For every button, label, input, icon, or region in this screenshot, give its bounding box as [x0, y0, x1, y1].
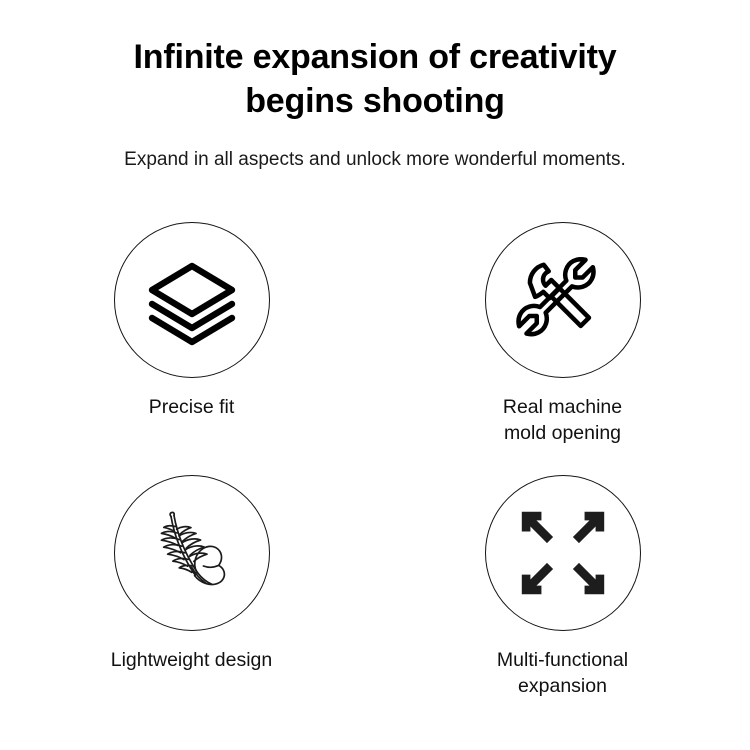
- page-subtitle: Expand in all aspects and unlock more wo…: [0, 148, 750, 173]
- feature-item-real-machine-mold-opening: Real machine mold opening: [375, 222, 750, 475]
- feature-icon-badge: [114, 475, 270, 631]
- header: Infinite expansion of creativity begins …: [0, 0, 750, 173]
- feature-label: Real machine mold opening: [503, 395, 622, 446]
- hammer-wrench-icon: [516, 253, 610, 347]
- feature-label: Multi-functional expansion: [497, 648, 628, 699]
- feature-label: Precise fit: [149, 395, 235, 421]
- feature-item-multi-functional-expansion: Multi-functional expansion: [375, 475, 750, 728]
- feature-grid: Precise fit Real machine mold opening: [0, 222, 750, 728]
- layers-icon: [144, 252, 240, 348]
- feature-icon-badge: [485, 475, 641, 631]
- feature-item-lightweight-design: Lightweight design: [0, 475, 375, 728]
- page-title-line-1: Infinite expansion of creativity: [60, 36, 690, 80]
- feature-icon-badge: [114, 222, 270, 378]
- page-title: Infinite expansion of creativity begins …: [0, 36, 750, 123]
- feature-icon-badge: [485, 222, 641, 378]
- expand-arrows-icon: [517, 507, 609, 599]
- promo-feature-page: Infinite expansion of creativity begins …: [0, 0, 750, 750]
- feature-label: Lightweight design: [111, 648, 273, 674]
- page-title-line-2: begins shooting: [60, 80, 690, 124]
- feature-item-precise-fit: Precise fit: [0, 222, 375, 475]
- feather-icon: [144, 505, 240, 601]
